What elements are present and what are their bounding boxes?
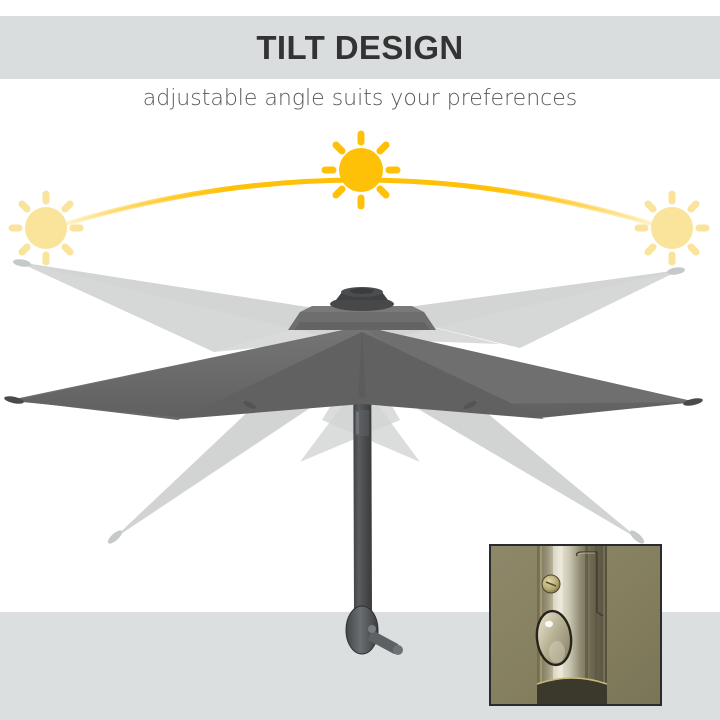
crank-handle[interactable] [346,606,403,655]
canopy-tilt-left-ghost [13,258,352,352]
canopy-tilt-right-ghost [372,266,685,348]
screw-icon [542,575,560,593]
tilt-mechanism-photo[interactable] [489,544,662,706]
tilt-mechanism-photo-content [491,546,660,704]
product-feature-image: TILT DESIGN adjustable angle suits your … [0,0,720,720]
umbrella-finial [330,287,394,311]
